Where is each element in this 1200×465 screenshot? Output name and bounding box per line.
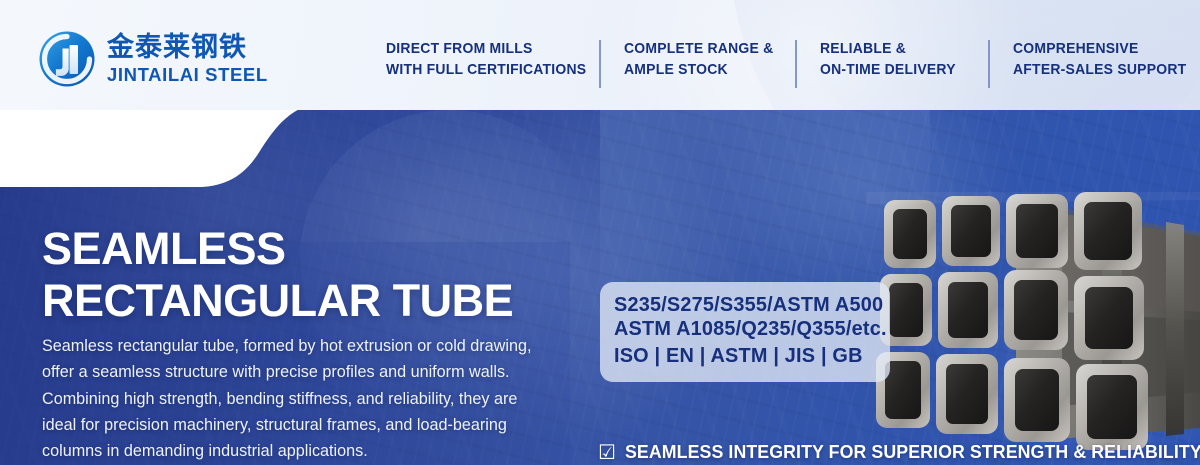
banner-header: 金泰莱钢铁 JINTAILAI STEEL DIRECT FROM MILLS …	[0, 0, 1200, 110]
benefit-item-1: ☑ SEAMLESS INTEGRITY FOR SUPERIOR STRENG…	[598, 437, 1200, 465]
header-feature-1: DIRECT FROM MILLS WITH FULL CERTIFICATIO…	[386, 38, 586, 81]
header-feature-2: COMPLETE RANGE & AMPLE STOCK	[624, 38, 773, 81]
header-divider-1	[599, 40, 601, 88]
hero-section: SEAMLESS RECTANGULAR TUBE Seamless recta…	[0, 92, 1200, 465]
spec-standards-line: ISO | EN | ASTM | JIS | GB	[614, 343, 868, 370]
header-feature-4-line2: AFTER-SALES SUPPORT	[1013, 59, 1186, 80]
benefit-item-1-label: SEAMLESS INTEGRITY FOR SUPERIOR STRENGTH…	[625, 441, 1200, 463]
checkbox-checked-icon: ☑	[598, 442, 616, 462]
brand-name-en: JINTAILAI STEEL	[107, 66, 268, 85]
header-feature-4-line1: COMPREHENSIVE	[1013, 40, 1139, 57]
specifications-box: S235/S275/S355/ASTM A500 ASTM A1085/Q235…	[600, 282, 890, 382]
brand-name-cn: 金泰莱钢铁	[107, 34, 268, 61]
spec-grades-line-2: ASTM A1085/Q235/Q355/etc.	[614, 317, 868, 341]
hero-headline-line2: RECTANGULAR TUBE	[42, 278, 513, 324]
brand-logo[interactable]: 金泰莱钢铁 JINTAILAI STEEL	[38, 30, 268, 88]
spec-grades-line-1: S235/S275/S355/ASTM A500	[614, 293, 868, 317]
hero-headline-line1: SEAMLESS	[42, 223, 286, 274]
benefits-list: ☑ SEAMLESS INTEGRITY FOR SUPERIOR STRENG…	[598, 437, 1200, 465]
header-feature-2-line1: COMPLETE RANGE &	[624, 40, 773, 57]
header-feature-3-line1: RELIABLE &	[820, 40, 906, 57]
header-feature-3: RELIABLE & ON-TIME DELIVERY	[820, 38, 956, 81]
header-divider-3	[988, 40, 990, 88]
header-feature-4: COMPREHENSIVE AFTER-SALES SUPPORT	[1013, 38, 1186, 81]
header-divider-2	[795, 40, 797, 88]
hero-headline: SEAMLESS RECTANGULAR TUBE	[42, 226, 513, 324]
jintailai-circle-logo-icon	[38, 30, 96, 88]
product-banner: 金泰莱钢铁 JINTAILAI STEEL DIRECT FROM MILLS …	[0, 0, 1200, 465]
hero-description: Seamless rectangular tube, formed by hot…	[42, 333, 534, 464]
header-feature-3-line2: ON-TIME DELIVERY	[820, 59, 956, 80]
header-feature-2-line2: AMPLE STOCK	[624, 59, 773, 80]
header-feature-1-line1: DIRECT FROM MILLS	[386, 40, 533, 57]
steel-tube-bundle-image	[866, 192, 1200, 450]
header-feature-1-line2: WITH FULL CERTIFICATIONS	[386, 59, 586, 80]
